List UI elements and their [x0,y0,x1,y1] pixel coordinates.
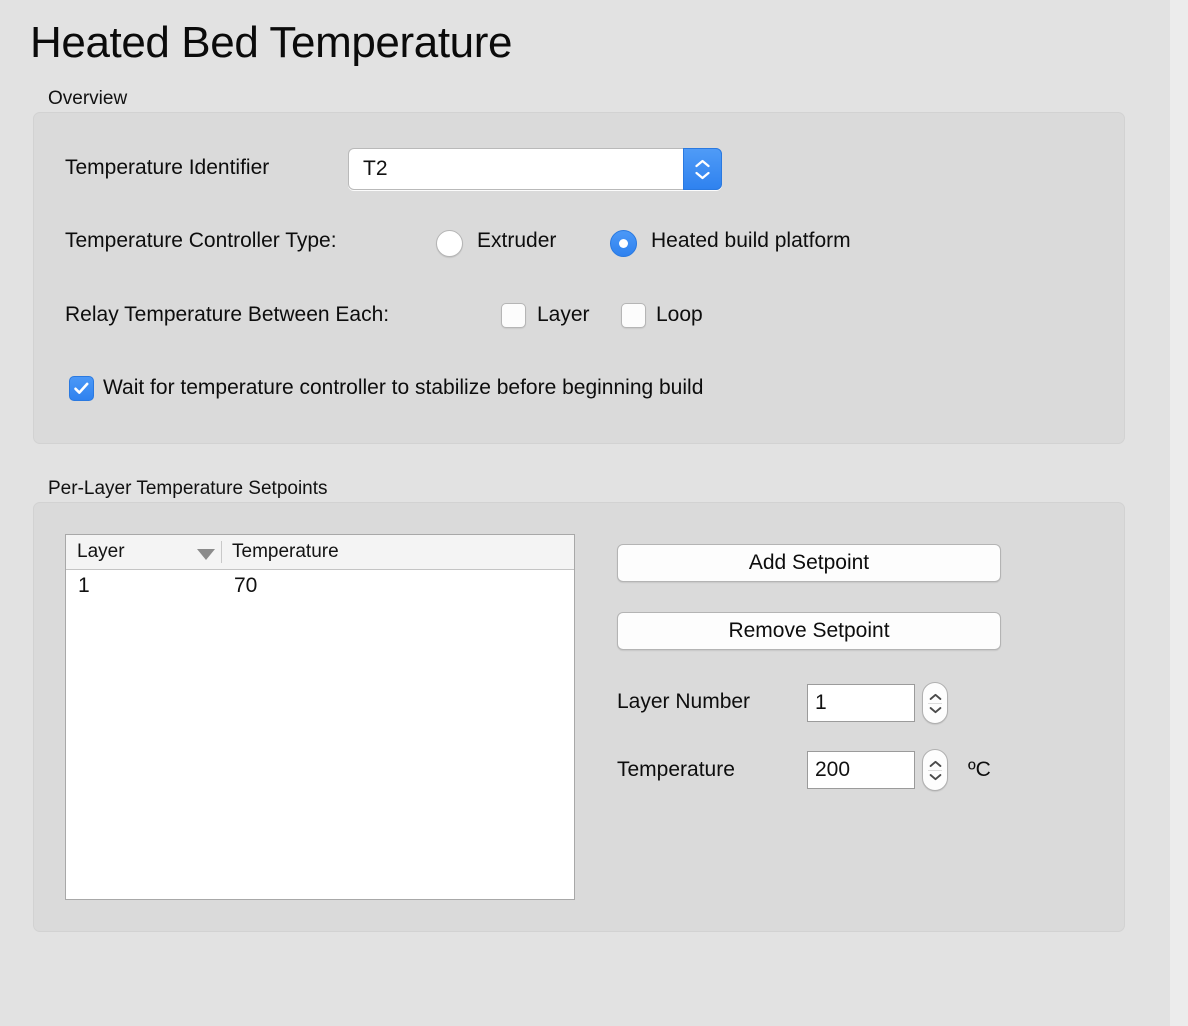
checkmark-icon [73,380,90,397]
stepper-divider [928,770,942,771]
checkbox-label-layer[interactable]: Layer [537,303,590,327]
checkbox-wait-stabilize[interactable] [69,376,94,401]
column-divider [221,541,222,563]
label-temperature-identifier: Temperature Identifier [65,156,269,180]
temperature-identifier-value: T2 [363,157,388,181]
temperature-input[interactable]: 200 [807,751,915,789]
chevron-up-icon[interactable] [695,159,710,168]
column-header-layer[interactable]: Layer [77,541,125,563]
settings-panel: Heated Bed Temperature Overview Temperat… [0,0,1188,1026]
sort-descending-triangle-icon[interactable] [197,549,215,560]
column-header-temperature[interactable]: Temperature [232,541,339,563]
radio-label-heated-build-platform[interactable]: Heated build platform [651,229,851,253]
page-title: Heated Bed Temperature [30,18,512,68]
chevron-down-icon[interactable] [929,706,942,714]
group-label-setpoints: Per-Layer Temperature Setpoints [48,478,328,500]
cell-layer: 1 [78,574,90,598]
temperature-identifier-stepper[interactable] [683,148,722,190]
remove-setpoint-button[interactable]: Remove Setpoint [617,612,1001,650]
radio-extruder[interactable] [436,230,463,257]
setpoints-listbox[interactable]: Layer Temperature 1 70 [65,534,575,900]
checkbox-loop[interactable] [621,303,646,328]
layer-number-stepper[interactable] [922,682,948,724]
checkbox-layer[interactable] [501,303,526,328]
layer-number-value: 1 [815,691,827,715]
chevron-down-icon[interactable] [929,773,942,781]
table-row[interactable]: 1 70 [66,570,574,606]
label-layer-number: Layer Number [617,690,750,714]
group-label-overview: Overview [48,88,127,110]
checkbox-label-loop[interactable]: Loop [656,303,703,327]
checkbox-label-wait-stabilize[interactable]: Wait for temperature controller to stabi… [103,376,703,400]
label-controller-type: Temperature Controller Type: [65,229,337,253]
chevron-up-icon[interactable] [929,760,942,768]
temperature-value: 200 [815,758,850,782]
label-temperature-setpoint: Temperature [617,758,735,782]
temperature-stepper[interactable] [922,749,948,791]
label-relay-temperature: Relay Temperature Between Each: [65,303,389,327]
right-gutter [1170,0,1188,1026]
chevron-down-icon[interactable] [695,171,710,180]
chevron-up-icon[interactable] [929,693,942,701]
table-header-row: Layer Temperature [66,535,574,570]
add-setpoint-button[interactable]: Add Setpoint [617,544,1001,582]
radio-label-extruder[interactable]: Extruder [477,229,556,253]
temperature-unit-label: ºC [968,758,991,782]
radio-heated-build-platform[interactable] [610,230,637,257]
cell-temperature: 70 [234,574,257,598]
stepper-divider [928,703,942,704]
temperature-identifier-combobox[interactable]: T2 [348,148,722,190]
layer-number-input[interactable]: 1 [807,684,915,722]
